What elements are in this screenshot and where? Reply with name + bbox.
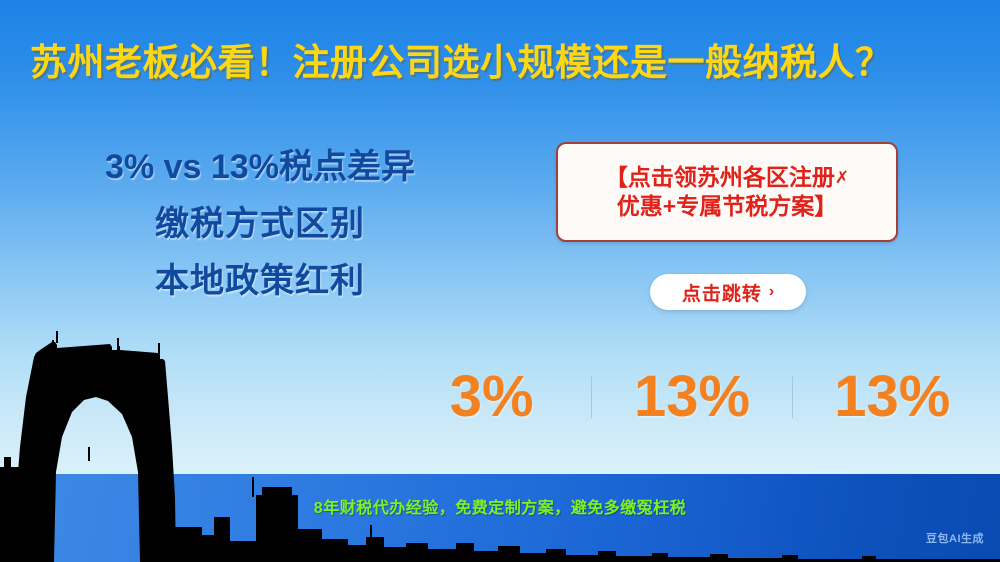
jump-button-label: 点击跳转	[682, 279, 762, 306]
ai-watermark: 豆包AI生成	[926, 530, 984, 546]
benefit-list: 3% vs 13%税点差异 缴税方式区别 本地政策红利	[0, 150, 520, 298]
offer-card-line-2: 优惠+专属节税方案】	[617, 192, 837, 221]
offer-card-line-1-text: 【点击领苏州各区注册	[605, 164, 835, 190]
water-band	[0, 474, 1000, 562]
tax-rate-divider-2	[792, 376, 793, 418]
benefit-item-payment-method: 缴税方式区别	[0, 207, 520, 241]
tax-rate-value-3: 13%	[793, 368, 992, 426]
offer-card[interactable]: 【点击领苏州各区注册✗ 优惠+专属节税方案】	[556, 142, 898, 242]
poster-canvas: 苏州老板必看！注册公司选小规模还是一般纳税人？ 3% vs 13%税点差异 缴税…	[0, 0, 1000, 562]
offer-card-line-1: 【点击领苏州各区注册✗	[605, 163, 849, 192]
tax-rate-row: 3% 13% 13%	[392, 366, 992, 428]
tax-rate-value-2: 13%	[592, 368, 791, 426]
tax-rate-divider-1	[591, 376, 592, 418]
page-title: 苏州老板必看！注册公司选小规模还是一般纳税人？	[30, 32, 893, 86]
chevron-right-icon: ›	[769, 283, 774, 301]
benefit-item-local-policy: 本地政策红利	[0, 264, 520, 298]
cross-mark-icon: ✗	[835, 168, 849, 187]
footer-slogan: 8年财税代办经验，免费定制方案，避免多缴冤枉税	[0, 494, 1000, 518]
tax-rate-value-1: 3%	[392, 368, 591, 426]
benefit-item-tax-rate-diff: 3% vs 13%税点差异	[0, 150, 520, 184]
jump-button[interactable]: 点击跳转 ›	[650, 274, 806, 310]
